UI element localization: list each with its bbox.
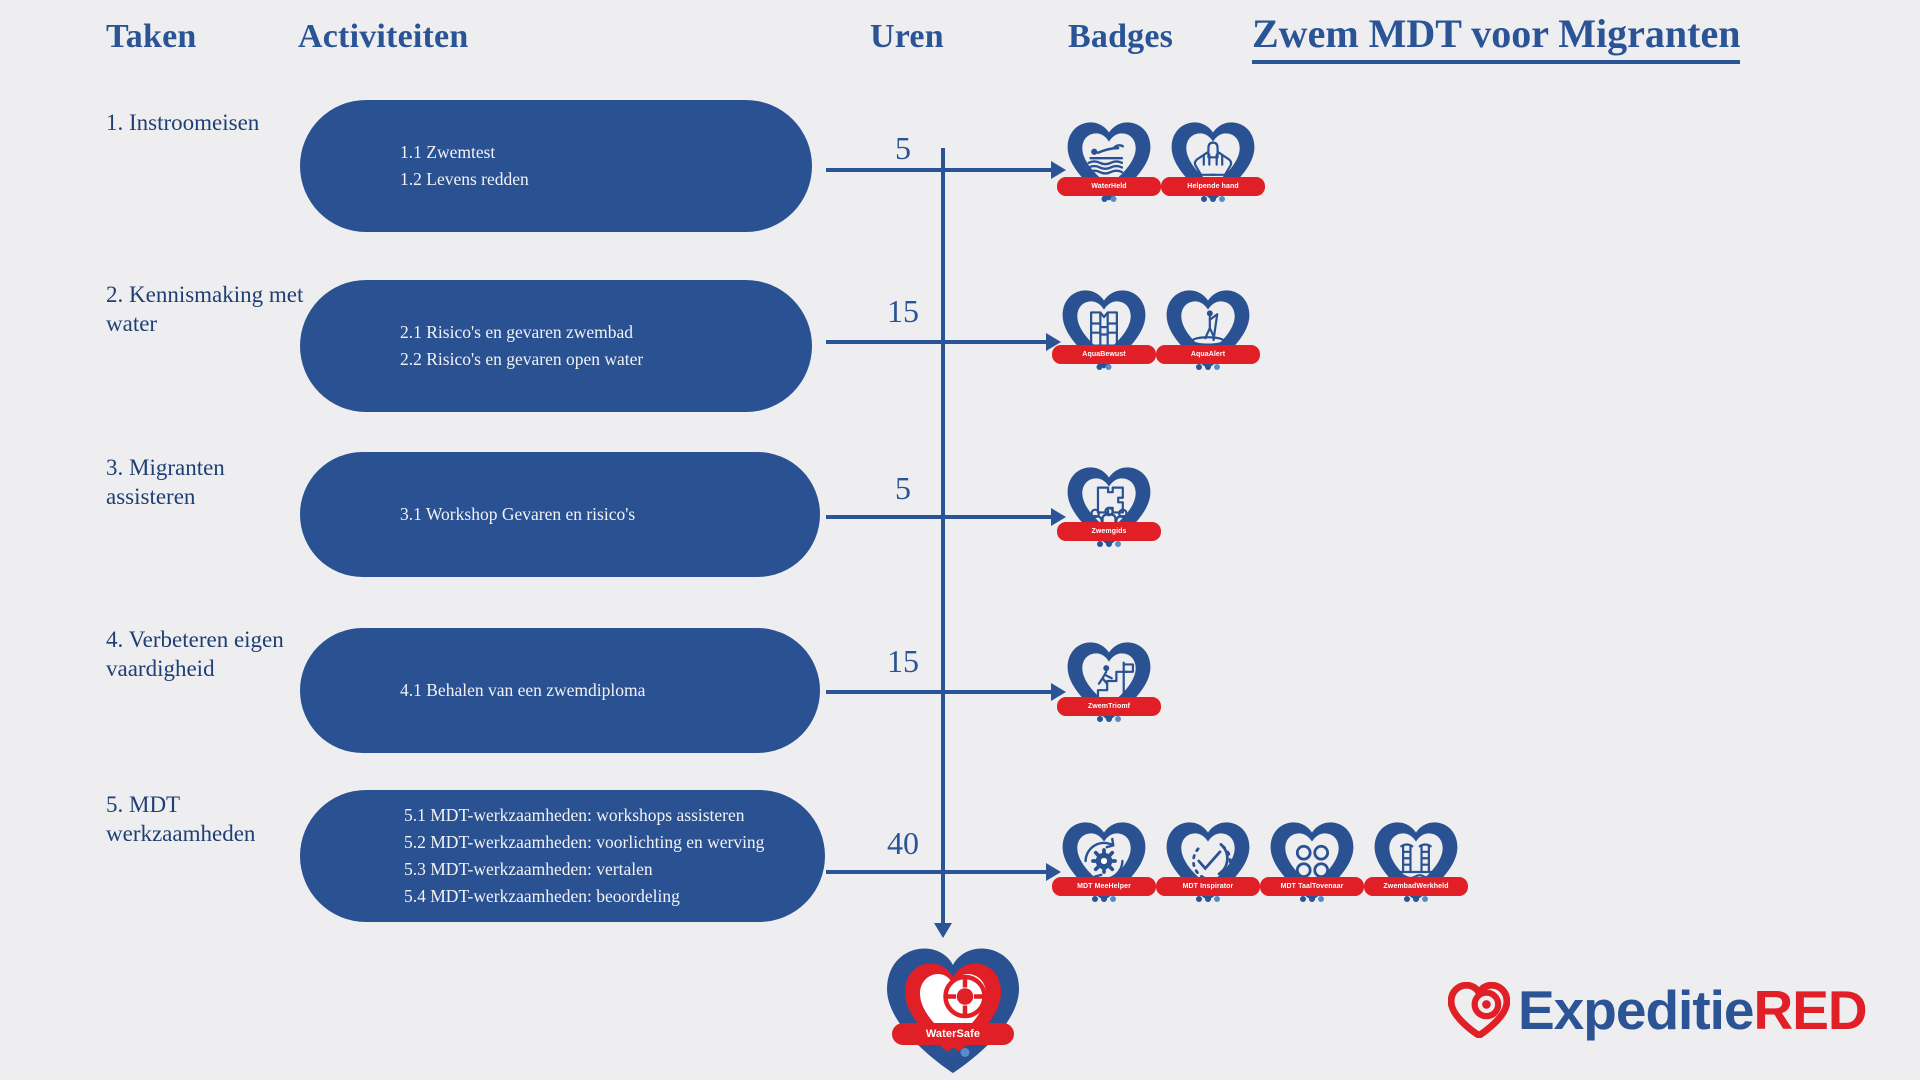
activity-line: 1.2 Levens redden bbox=[400, 166, 529, 193]
connector-line-right bbox=[941, 515, 1051, 519]
badge[interactable]: WaterHeld bbox=[1063, 115, 1155, 207]
badge-level-dots bbox=[1196, 364, 1220, 370]
badge-level-dots bbox=[1201, 196, 1225, 202]
badge[interactable]: ZwembadWerkheld bbox=[1370, 815, 1462, 907]
badge-level-dots bbox=[1097, 541, 1121, 547]
diagram-canvas: Taken Activiteiten Uren Badges Zwem MDT … bbox=[0, 0, 1920, 1080]
activity-pill[interactable]: 4.1 Behalen van een zwemdiploma bbox=[300, 628, 820, 753]
badge-group: ZwemTriomf bbox=[1063, 635, 1155, 727]
badge[interactable]: ZwemTriomf bbox=[1063, 635, 1155, 727]
badge-group: Zwemgids bbox=[1063, 460, 1155, 552]
connector-line-left bbox=[826, 870, 943, 874]
activity-line: 5.4 MDT-werkzaamheden: beoordeling bbox=[404, 883, 764, 910]
heart-lifebuoy-icon bbox=[878, 935, 1028, 1080]
column-header-activiteiten: Activiteiten bbox=[298, 18, 468, 56]
logo-text-expeditie: Expeditie bbox=[1518, 979, 1754, 1041]
activity-list: 1.1 Zwemtest1.2 Levens redden bbox=[400, 139, 529, 193]
activity-pill[interactable]: 1.1 Zwemtest1.2 Levens redden bbox=[300, 100, 812, 232]
badge-level-dots bbox=[1196, 896, 1220, 902]
hours-value: 5 bbox=[863, 130, 943, 167]
activity-line: 5.3 MDT-werkzaamheden: vertalen bbox=[404, 856, 764, 883]
task-label: 5. MDT werkzaamheden bbox=[106, 790, 306, 849]
hours-value: 5 bbox=[863, 470, 943, 507]
connector-line-left bbox=[826, 168, 943, 172]
badge-level-dots bbox=[1300, 896, 1324, 902]
expeditie-red-logo: ExpeditieRED bbox=[1448, 978, 1867, 1042]
activity-pill[interactable]: 3.1 Workshop Gevaren en risico's bbox=[300, 452, 820, 577]
badge-label: MDT MeeHelper bbox=[1052, 877, 1156, 896]
activity-pill[interactable]: 5.1 MDT-werkzaamheden: workshops assiste… bbox=[300, 790, 825, 922]
logo-text: ExpeditieRED bbox=[1518, 978, 1867, 1042]
activity-list: 3.1 Workshop Gevaren en risico's bbox=[400, 501, 635, 528]
badge-label: MDT TaalTovenaar bbox=[1260, 877, 1364, 896]
badge-group: MDT MeeHelper MDT Inspirator MDT TaalTov… bbox=[1058, 815, 1462, 907]
badge[interactable]: AquaBewust bbox=[1058, 283, 1150, 375]
activity-list: 4.1 Behalen van een zwemdiploma bbox=[400, 677, 645, 704]
activity-pill[interactable]: 2.1 Risico's en gevaren zwembad2.2 Risic… bbox=[300, 280, 812, 412]
hours-value: 40 bbox=[863, 825, 943, 862]
task-label: 4. Verbeteren eigen vaardigheid bbox=[106, 625, 326, 684]
badge[interactable]: Zwemgids bbox=[1063, 460, 1155, 552]
activity-line: 3.1 Workshop Gevaren en risico's bbox=[400, 501, 635, 528]
final-badge-label: WaterSafe bbox=[892, 1023, 1014, 1045]
badge-level-dots bbox=[1097, 364, 1112, 370]
badge-group: AquaBewust AquaAlert bbox=[1058, 283, 1254, 375]
connector-line-right bbox=[941, 870, 1046, 874]
logo-text-red: RED bbox=[1754, 979, 1867, 1041]
column-header-uren: Uren bbox=[870, 18, 944, 56]
task-label: 3. Migranten assisteren bbox=[106, 453, 306, 512]
timeline-spine bbox=[941, 148, 945, 925]
activity-line: 5.2 MDT-werkzaamheden: voorlichting en w… bbox=[404, 829, 764, 856]
badge-label: WaterHeld bbox=[1057, 177, 1161, 196]
heart-lifebuoy-logo-icon bbox=[1448, 982, 1510, 1038]
final-badge-dots bbox=[937, 1048, 970, 1057]
badge-label: Helpende hand bbox=[1161, 177, 1265, 196]
connector-line-left bbox=[826, 340, 943, 344]
column-header-badges: Badges bbox=[1068, 18, 1173, 56]
activity-list: 5.1 MDT-werkzaamheden: workshops assiste… bbox=[404, 802, 764, 911]
hours-value: 15 bbox=[863, 293, 943, 330]
connector-line-right bbox=[941, 340, 1046, 344]
hours-value: 15 bbox=[863, 643, 943, 680]
activity-line: 4.1 Behalen van een zwemdiploma bbox=[400, 677, 645, 704]
activity-line: 5.1 MDT-werkzaamheden: workshops assiste… bbox=[404, 802, 764, 829]
badge-level-dots bbox=[1097, 716, 1121, 722]
badge[interactable]: MDT Inspirator bbox=[1162, 815, 1254, 907]
badge-label: ZwembadWerkheld bbox=[1364, 877, 1468, 896]
activity-line: 2.1 Risico's en gevaren zwembad bbox=[400, 319, 643, 346]
connector-line-right bbox=[941, 690, 1051, 694]
activity-list: 2.1 Risico's en gevaren zwembad2.2 Risic… bbox=[400, 319, 643, 373]
column-header-taken: Taken bbox=[106, 18, 196, 56]
badge-level-dots bbox=[1092, 896, 1116, 902]
final-badge[interactable]: WaterSafe bbox=[878, 935, 1028, 1055]
badge[interactable]: MDT TaalTovenaar bbox=[1266, 815, 1358, 907]
badge[interactable]: Helpende hand bbox=[1167, 115, 1259, 207]
badge-group: WaterHeld Helpende hand bbox=[1063, 115, 1259, 207]
activity-line: 2.2 Risico's en gevaren open water bbox=[400, 346, 643, 373]
badge-label: MDT Inspirator bbox=[1156, 877, 1260, 896]
badge[interactable]: AquaAlert bbox=[1162, 283, 1254, 375]
activity-line: 1.1 Zwemtest bbox=[400, 139, 529, 166]
badge-level-dots bbox=[1102, 196, 1117, 202]
connector-line-left bbox=[826, 515, 943, 519]
badge-label: AquaAlert bbox=[1156, 345, 1260, 364]
badge-label: Zwemgids bbox=[1057, 522, 1161, 541]
connector-line-right bbox=[941, 168, 1051, 172]
badge-label: AquaBewust bbox=[1052, 345, 1156, 364]
task-label: 2. Kennismaking met water bbox=[106, 280, 306, 339]
page-title: Zwem MDT voor Migranten bbox=[1252, 10, 1740, 64]
task-label: 1. Instroomeisen bbox=[106, 108, 326, 137]
connector-line-left bbox=[826, 690, 943, 694]
badge-level-dots bbox=[1404, 896, 1428, 902]
badge[interactable]: MDT MeeHelper bbox=[1058, 815, 1150, 907]
badge-label: ZwemTriomf bbox=[1057, 697, 1161, 716]
